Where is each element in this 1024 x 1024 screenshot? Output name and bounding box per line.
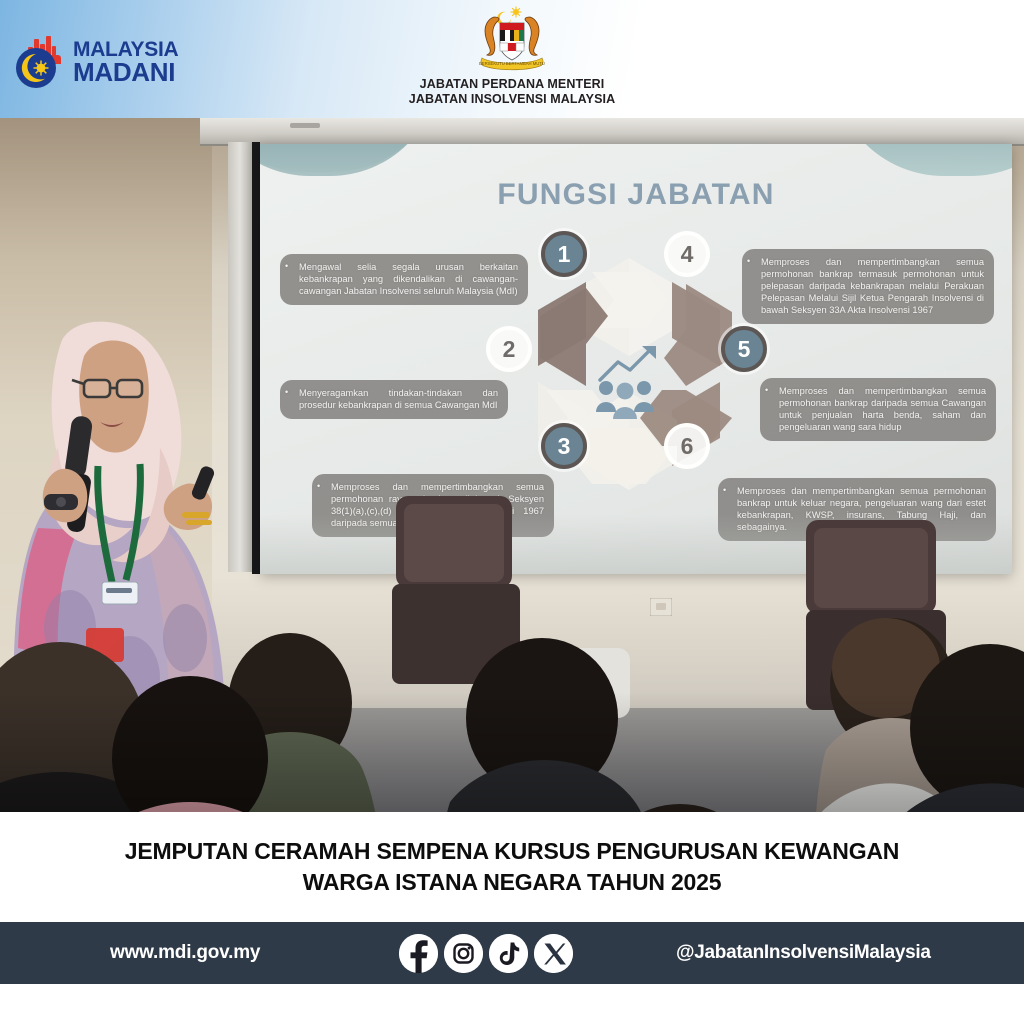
bullet-icon-4: • [747,256,750,268]
bottom-white-strip [0,984,1024,1024]
agency-name: JABATAN PERDANA MENTERI JABATAN INSOLVEN… [409,77,615,107]
hex-number-5: 5 [721,326,767,372]
event-photo: FUNGSI JABATAN [0,118,1024,812]
slide-text-5: Memproses dan mempertimbangkan semua per… [770,385,986,433]
hexagon-diagram: 1 2 3 4 5 6 [496,240,762,508]
x-twitter-icon[interactable] [534,934,573,973]
people-growth-chart-icon [596,346,656,419]
bullet-icon-1: • [285,261,288,273]
agency-crest-block: BERSEKUTU BERTAMBAH MUTU JABATAN PERDANA… [0,3,1024,115]
social-handle[interactable]: @JabatanInsolvensiMalaysia [676,942,931,964]
hex-number-1: 1 [541,231,587,277]
slide-text-box-4: • Memproses dan mempertimbangkan semua p… [742,249,994,324]
slide-text-box-1: • Mengawal selia segala urusan berkaitan… [280,254,528,305]
slide-text-1: Mengawal selia segala urusan berkaitan k… [290,261,518,297]
caption-block: JEMPUTAN CERAMAH SEMPENA KURSUS PENGURUS… [0,812,1024,922]
hex-number-2: 2 [486,326,532,372]
instagram-icon[interactable] [444,934,483,973]
bullet-icon-5: • [765,385,768,397]
agency-line-2: JABATAN INSOLVENSI MALAYSIA [409,92,615,107]
slide-text-2: Menyeragamkan tindakan-tindakan dan pros… [290,387,498,411]
slide-text-4: Memproses dan mempertimbangkan semua per… [752,256,984,316]
tiktok-icon[interactable] [489,934,528,973]
social-icons [399,934,573,973]
header-bar: MALAYSIA MADANI [0,0,1024,118]
photo-vignette [0,692,1024,812]
svg-text:BERSEKUTU BERTAMBAH MUTU: BERSEKUTU BERTAMBAH MUTU [479,61,545,66]
projector-screen-housing [200,118,1024,146]
facebook-icon[interactable] [399,934,438,973]
hex-number-3: 3 [541,423,587,469]
hex-number-6: 6 [664,423,710,469]
hex-number-4: 4 [664,231,710,277]
website-url[interactable]: www.mdi.gov.my [110,942,260,964]
bullet-icon-6: • [723,485,726,497]
poster-root: MALAYSIA MADANI [0,0,1024,1024]
caption-line-1: JEMPUTAN CERAMAH SEMPENA KURSUS PENGURUS… [125,836,899,867]
slide-decor-arc-left [260,144,440,176]
footer-bar: www.mdi.gov.my [0,922,1024,984]
slide-title: FUNGSI JABATAN [260,178,1012,212]
agency-line-1: JABATAN PERDANA MENTERI [409,77,615,92]
malaysia-coat-of-arms-icon: BERSEKUTU BERTAMBAH MUTU [464,3,560,75]
slide-text-box-2: • Menyeragamkan tindakan-tindakan dan pr… [280,380,508,419]
caption-line-2: WARGA ISTANA NEGARA TAHUN 2025 [303,867,722,898]
slide-decor-arc-right [832,144,1012,176]
bullet-icon-2: • [285,387,288,399]
slide-text-box-5: • Memproses dan mempertimbangkan semua p… [760,378,996,441]
bullet-icon-3: • [317,481,320,493]
